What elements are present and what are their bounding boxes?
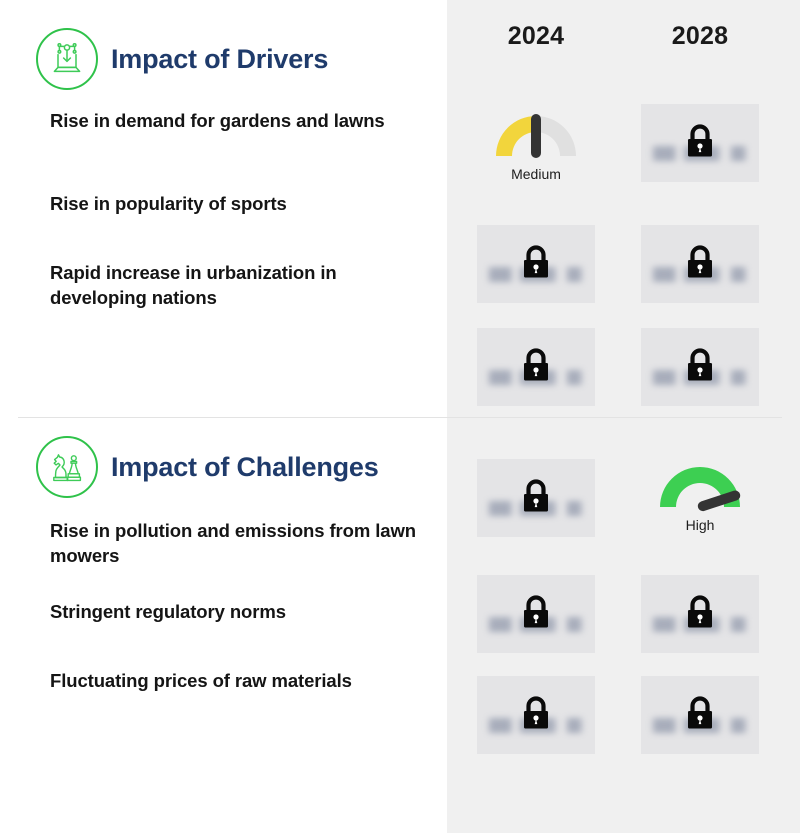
impact-matrix-board: 2024 2028 Impact of Driv xyxy=(0,0,800,833)
drivers-laptop-arrow-icon xyxy=(36,28,98,90)
gauge-label-medium: Medium xyxy=(477,166,595,182)
locked-tile xyxy=(477,328,595,406)
challenges-chess-pieces-icon xyxy=(36,436,98,498)
column-header-2024: 2024 xyxy=(476,22,596,51)
list-item-driver-3: Rapid increase in urbanization in develo… xyxy=(50,260,430,310)
list-item-challenge-1: Rise in pollution and emissions from law… xyxy=(50,518,430,568)
cell-drivers-r2-2024[interactable] xyxy=(477,225,595,303)
locked-tile xyxy=(641,225,759,303)
locked-tile xyxy=(477,676,595,754)
list-item-challenge-3: Fluctuating prices of raw materials xyxy=(50,668,430,693)
lock-icon xyxy=(683,122,717,160)
lock-icon xyxy=(683,694,717,732)
lock-icon xyxy=(683,243,717,281)
section-header-drivers: Impact of Drivers xyxy=(36,28,328,90)
lock-icon xyxy=(683,346,717,384)
cell-challenges-r3-2028[interactable] xyxy=(641,676,759,754)
gauge-high xyxy=(641,457,759,519)
locked-tile xyxy=(477,575,595,653)
lock-icon xyxy=(683,593,717,631)
locked-tile xyxy=(641,328,759,406)
gauge-medium xyxy=(477,106,595,168)
gauge-label-high: High xyxy=(641,517,759,533)
cell-drivers-r1-2024[interactable]: Medium xyxy=(477,104,595,182)
lock-icon xyxy=(519,346,553,384)
cell-drivers-r1-2028[interactable] xyxy=(641,104,759,182)
section-title-challenges: Impact of Challenges xyxy=(111,452,379,483)
locked-tile xyxy=(641,104,759,182)
lock-icon xyxy=(519,243,553,281)
locked-tile xyxy=(641,676,759,754)
section-header-challenges: Impact of Challenges xyxy=(36,436,379,498)
section-title-drivers: Impact of Drivers xyxy=(111,44,328,75)
cell-drivers-r3-2024[interactable] xyxy=(477,328,595,406)
locked-tile xyxy=(477,459,595,537)
list-item-challenge-2: Stringent regulatory norms xyxy=(50,599,430,624)
locked-tile xyxy=(477,225,595,303)
cell-challenges-r1-2028[interactable]: High xyxy=(641,455,759,533)
cell-drivers-r3-2028[interactable] xyxy=(641,328,759,406)
cell-challenges-r3-2024[interactable] xyxy=(477,676,595,754)
cell-challenges-r2-2024[interactable] xyxy=(477,575,595,653)
locked-tile xyxy=(641,575,759,653)
cell-drivers-r2-2028[interactable] xyxy=(641,225,759,303)
list-item-driver-2: Rise in popularity of sports xyxy=(50,191,430,216)
section-divider xyxy=(18,417,782,418)
column-header-2028: 2028 xyxy=(640,22,760,51)
cell-challenges-r1-2024[interactable] xyxy=(477,459,595,537)
lock-icon xyxy=(519,694,553,732)
cell-challenges-r2-2028[interactable] xyxy=(641,575,759,653)
list-item-driver-1: Rise in demand for gardens and lawns xyxy=(50,108,430,133)
lock-icon xyxy=(519,593,553,631)
lock-icon xyxy=(519,477,553,515)
